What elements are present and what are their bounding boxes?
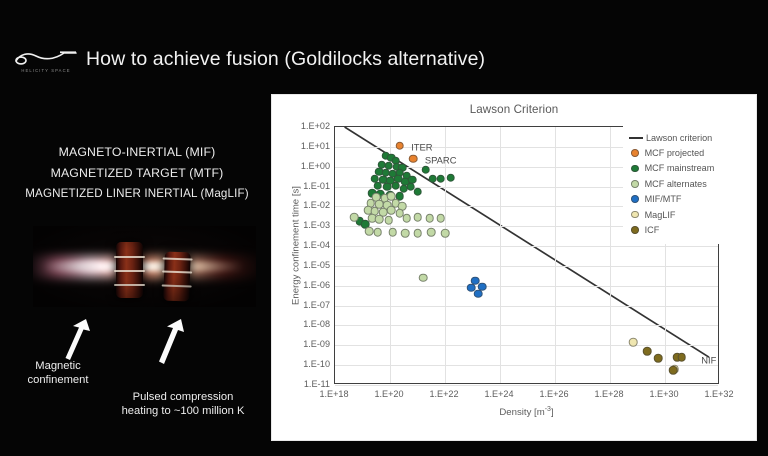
chart-panel: Lawson Criterion 1.E+021.E+011.E+001.E-0…	[272, 95, 756, 440]
x-tick-label: 1.E+24	[469, 389, 529, 399]
chart-title: Lawson Criterion	[272, 103, 756, 116]
grid-line-horizontal	[335, 246, 718, 247]
scatter-point-mcf-alternates	[437, 214, 446, 223]
scatter-point-mcf-alternates	[401, 229, 410, 238]
x-axis-title-text: Density [m-3]	[499, 407, 553, 418]
callout-1-line-1: Magnetic	[6, 359, 110, 373]
grid-line-horizontal	[335, 365, 718, 366]
scatter-point-mcf-projected	[409, 154, 418, 163]
page-title: How to achieve fusion (Goldilocks altern…	[86, 48, 485, 71]
lead-line-mif: MAGNETO-INERTIAL (MIF)	[7, 145, 267, 159]
legend-item-mif-mtf[interactable]: MIF/MTF	[629, 192, 741, 207]
legend-item-mcf-alternates[interactable]: MCF alternates	[629, 176, 741, 191]
scatter-point-mcf-alternates	[402, 214, 411, 223]
grid-line-horizontal	[335, 306, 718, 307]
chart-legend: Lawson criterionMCF projectedMCF mainstr…	[623, 125, 747, 244]
grid-line-horizontal	[335, 345, 718, 346]
scatter-point-mcf-mainstream	[413, 187, 422, 196]
grid-line-horizontal	[335, 266, 718, 267]
annotation-sparc: SPARC	[425, 154, 457, 165]
scatter-point-mcf-alternates	[384, 216, 393, 225]
legend-label: MCF alternates	[645, 179, 707, 189]
scatter-point-mcf-alternates	[419, 274, 428, 283]
scatter-point-mcf-alternates	[373, 228, 382, 237]
legend-dot-swatch	[631, 226, 639, 234]
y-tick-label: 1.E-11	[272, 379, 330, 389]
y-tick-label: 1.E-10	[272, 359, 330, 369]
scatter-point-maglif	[629, 338, 638, 347]
grid-line-vertical	[445, 127, 446, 383]
grid-line-vertical	[555, 127, 556, 383]
brand-wordmark: HELICITY SPACE	[15, 68, 77, 73]
legend-dot-swatch	[631, 195, 639, 203]
x-tick-label: 1.E+32	[689, 389, 749, 399]
annotation-nif: NIF	[701, 355, 716, 366]
plasma-coil-photo	[33, 226, 256, 307]
callout-pulsed-compression: Pulsed compression heating to ~100 milli…	[104, 390, 262, 418]
legend-item-lawson-criterion[interactable]: Lawson criterion	[629, 130, 741, 145]
scatter-point-mif-mtf	[474, 289, 483, 298]
legend-label: MCF mainstream	[645, 163, 715, 173]
scatter-point-mcf-alternates	[350, 213, 359, 222]
scatter-point-mcf-alternates	[426, 214, 435, 223]
legend-item-maglif[interactable]: MagLIF	[629, 207, 741, 222]
scatter-point-icf	[677, 353, 686, 362]
x-tick-label: 1.E+20	[359, 389, 419, 399]
grid-line-horizontal	[335, 325, 718, 326]
legend-line-swatch	[629, 137, 643, 139]
grid-line-vertical	[610, 127, 611, 383]
arrow-pulsed-compression-icon	[155, 318, 187, 371]
scatter-point-mcf-alternates	[413, 229, 422, 238]
y-tick-label: 1.E+02	[272, 121, 330, 131]
legend-item-mcf-mainstream[interactable]: MCF mainstream	[629, 161, 741, 176]
x-tick-label: 1.E+18	[304, 389, 364, 399]
lead-line-mtf: MAGNETIZED TARGET (MTF)	[7, 166, 267, 180]
legend-label: MagLIF	[645, 210, 676, 220]
scatter-point-mcf-mainstream	[437, 174, 446, 183]
x-tick-label: 1.E+28	[579, 389, 639, 399]
legend-label: Lawson criterion	[646, 133, 712, 143]
legend-item-icf[interactable]: ICF	[629, 222, 741, 237]
legend-label: MCF projected	[645, 148, 705, 158]
legend-dot-swatch	[631, 211, 639, 219]
callout-magnetic-confinement: Magnetic confinement	[6, 359, 110, 387]
photo-vignette	[33, 226, 256, 307]
annotation-iter: ITER	[411, 141, 432, 152]
y-axis-title: Energy confinement time [s]	[291, 136, 302, 356]
callout-2-line-1: Pulsed compression	[104, 390, 262, 404]
scatter-point-mcf-mainstream	[421, 165, 430, 174]
callout-1-line-2: confinement	[6, 373, 110, 387]
legend-dot-swatch	[631, 149, 639, 157]
scatter-point-icf	[669, 366, 678, 375]
grid-line-horizontal	[335, 286, 718, 287]
scatter-point-icf	[643, 347, 652, 356]
grid-line-horizontal	[335, 385, 718, 386]
scatter-point-mcf-projected	[395, 142, 404, 151]
legend-label: MIF/MTF	[645, 194, 682, 204]
scatter-point-mcf-alternates	[441, 229, 450, 238]
legend-item-mcf-projected[interactable]: MCF projected	[629, 145, 741, 160]
scatter-point-mcf-mainstream	[373, 181, 382, 190]
scatter-point-mcf-alternates	[413, 213, 422, 222]
scatter-point-mcf-mainstream	[446, 173, 455, 182]
legend-dot-swatch	[631, 165, 639, 173]
x-tick-label: 1.E+26	[524, 389, 584, 399]
callout-2-line-2: heating to ~100 million K	[104, 404, 262, 418]
scatter-point-mcf-alternates	[388, 228, 397, 237]
slide-root: HELICITY SPACE How to achieve fusion (Go…	[0, 0, 768, 456]
legend-dot-swatch	[631, 180, 639, 188]
x-axis-title: Density [m-3]	[334, 406, 719, 418]
x-tick-label: 1.E+22	[414, 389, 474, 399]
grid-line-vertical	[500, 127, 501, 383]
scatter-point-icf	[654, 354, 663, 363]
x-axis-tick-labels: 1.E+181.E+201.E+221.E+241.E+261.E+281.E+…	[334, 389, 719, 403]
lead-line-maglif: MAGNETIZED LINER INERTIAL (MagLIF)	[7, 187, 267, 200]
scatter-point-mcf-alternates	[427, 228, 436, 237]
legend-label: ICF	[645, 225, 660, 235]
x-tick-label: 1.E+30	[634, 389, 694, 399]
scatter-point-mcf-alternates	[375, 215, 384, 224]
